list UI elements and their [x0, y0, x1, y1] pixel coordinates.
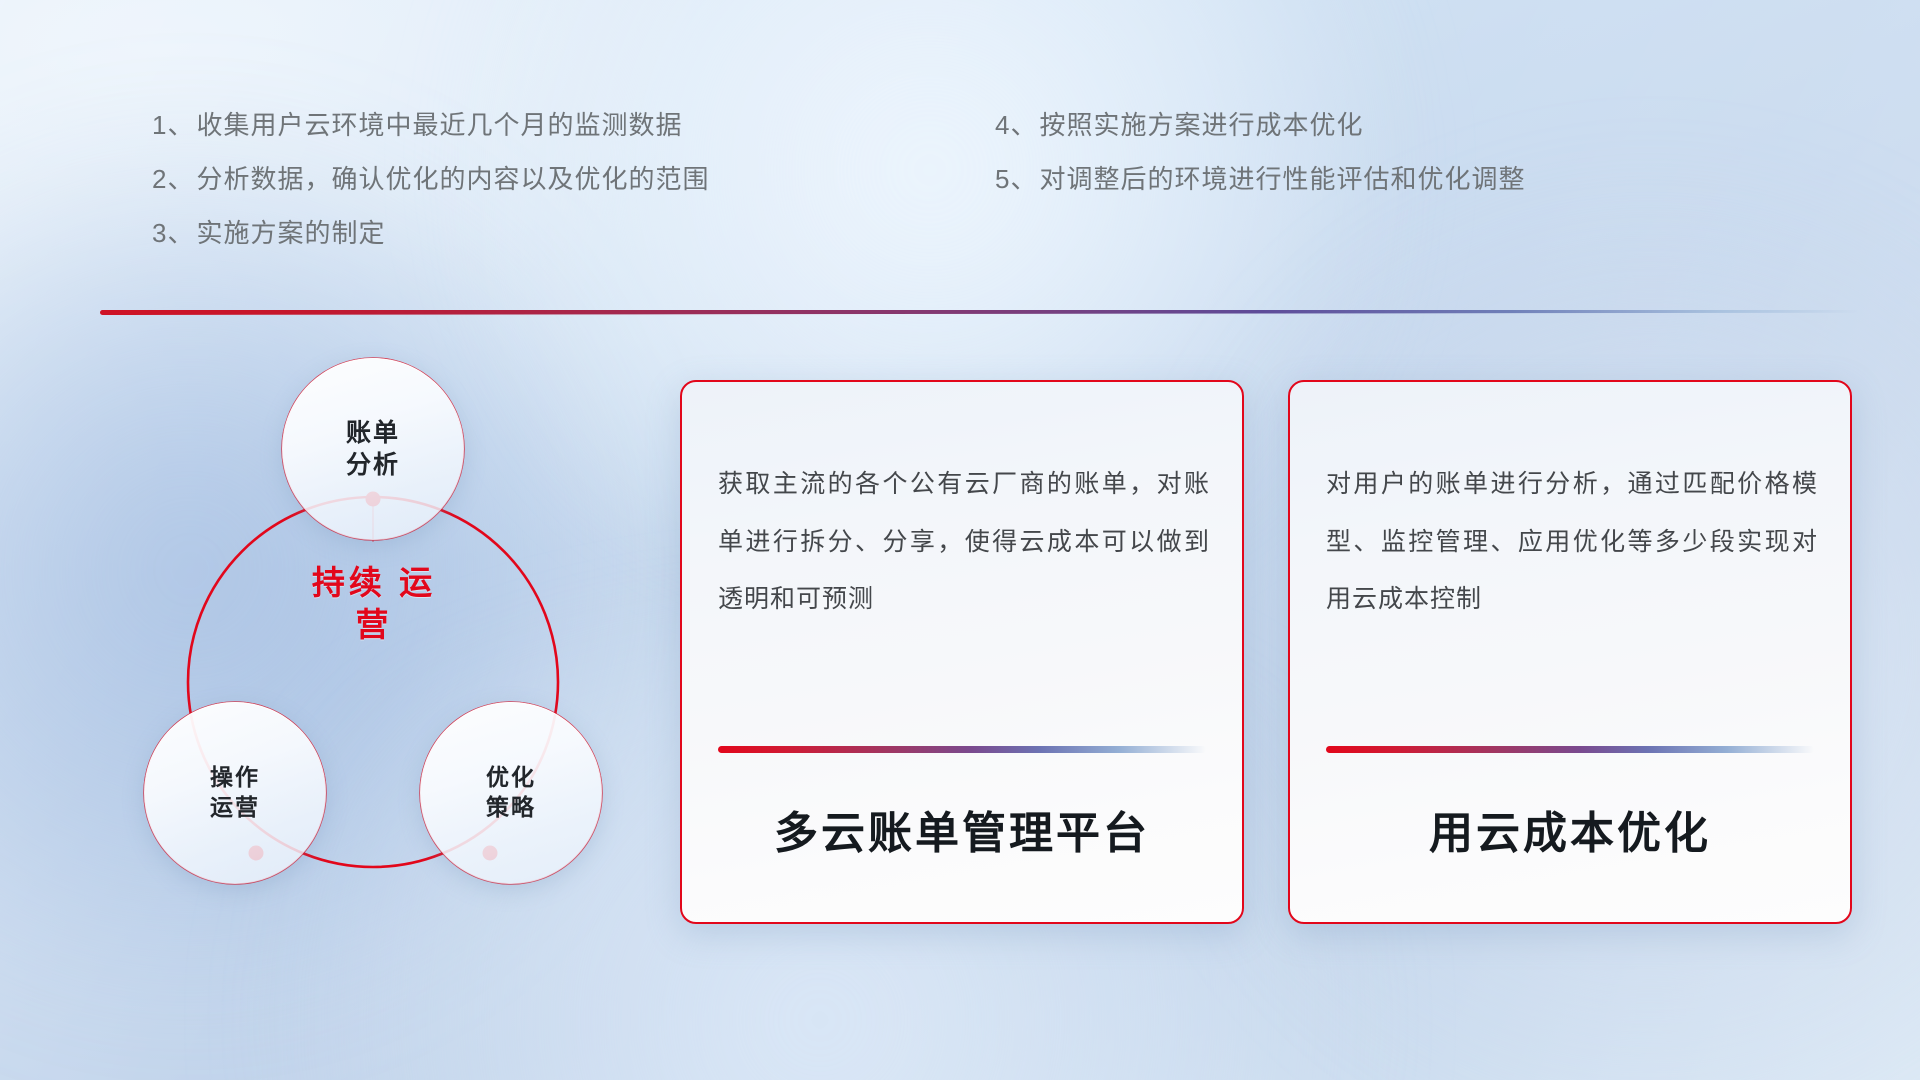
venn-center-label: 持续 运营: [294, 562, 454, 646]
venn-bubble-bill-analysis[interactable]: 账单 分析: [282, 358, 464, 540]
venn-bubble-line2: 运营: [210, 793, 260, 823]
step-label: 收集用户云环境中最近几个月的监测数据: [196, 112, 682, 138]
card-title: 用云成本优化: [1290, 797, 1850, 861]
step-item: 1、 收集用户云环境中最近几个月的监测数据: [152, 112, 709, 138]
card-body-text: 获取主流的各个公有云厂商的账单，对账单进行拆分、分享，使得云成本可以做到透明和可…: [718, 456, 1210, 629]
venn-bubble-operations[interactable]: 操作 运营: [144, 702, 326, 884]
step-label: 分析数据，确认优化的内容以及优化的范围: [196, 166, 709, 192]
venn-bubble-line2: 策略: [486, 793, 536, 823]
steps-left-column: 1、 收集用户云环境中最近几个月的监测数据 2、 分析数据，确认优化的内容以及优…: [152, 112, 709, 274]
step-number: 5、: [995, 166, 1037, 192]
venn-bubble-line1: 账单: [346, 417, 400, 450]
step-number: 2、: [152, 166, 194, 192]
step-label: 对调整后的环境进行性能评估和优化调整: [1039, 166, 1525, 192]
card-gradient-divider: [1326, 746, 1814, 753]
step-item: 2、 分析数据，确认优化的内容以及优化的范围: [152, 166, 709, 192]
step-number: 1、: [152, 112, 194, 138]
step-number: 4、: [995, 112, 1037, 138]
venn-bubble-line1: 操作: [210, 763, 260, 793]
step-label: 按照实施方案进行成本优化: [1039, 112, 1363, 138]
venn-center-line1: 持续: [312, 564, 386, 601]
venn-bubble-line2: 分析: [346, 449, 400, 482]
slide-canvas: 1、 收集用户云环境中最近几个月的监测数据 2、 分析数据，确认优化的内容以及优…: [0, 0, 1920, 1080]
venn-bubble-line1: 优化: [486, 763, 536, 793]
card-multi-cloud-billing-platform[interactable]: 获取主流的各个公有云厂商的账单，对账单进行拆分、分享，使得云成本可以做到透明和可…: [680, 380, 1244, 924]
step-item: 3、 实施方案的制定: [152, 220, 709, 246]
step-item: 5、 对调整后的环境进行性能评估和优化调整: [995, 166, 1525, 192]
card-cloud-cost-optimization[interactable]: 对用户的账单进行分析，通过匹配价格模型、监控管理、应用优化等多少段实现对用云成本…: [1288, 380, 1852, 924]
venn-diagram: 账单 分析 操作 运营 优化 策略 持续 运营: [96, 352, 636, 952]
step-label: 实施方案的制定: [196, 220, 385, 246]
card-gradient-divider: [718, 746, 1206, 753]
step-item: 4、 按照实施方案进行成本优化: [995, 112, 1525, 138]
card-body-text: 对用户的账单进行分析，通过匹配价格模型、监控管理、应用优化等多少段实现对用云成本…: [1326, 456, 1818, 629]
card-title: 多云账单管理平台: [682, 797, 1242, 861]
step-number: 3、: [152, 220, 194, 246]
venn-bubble-optimization-strategy[interactable]: 优化 策略: [420, 702, 602, 884]
steps-right-column: 4、 按照实施方案进行成本优化 5、 对调整后的环境进行性能评估和优化调整: [995, 112, 1525, 220]
